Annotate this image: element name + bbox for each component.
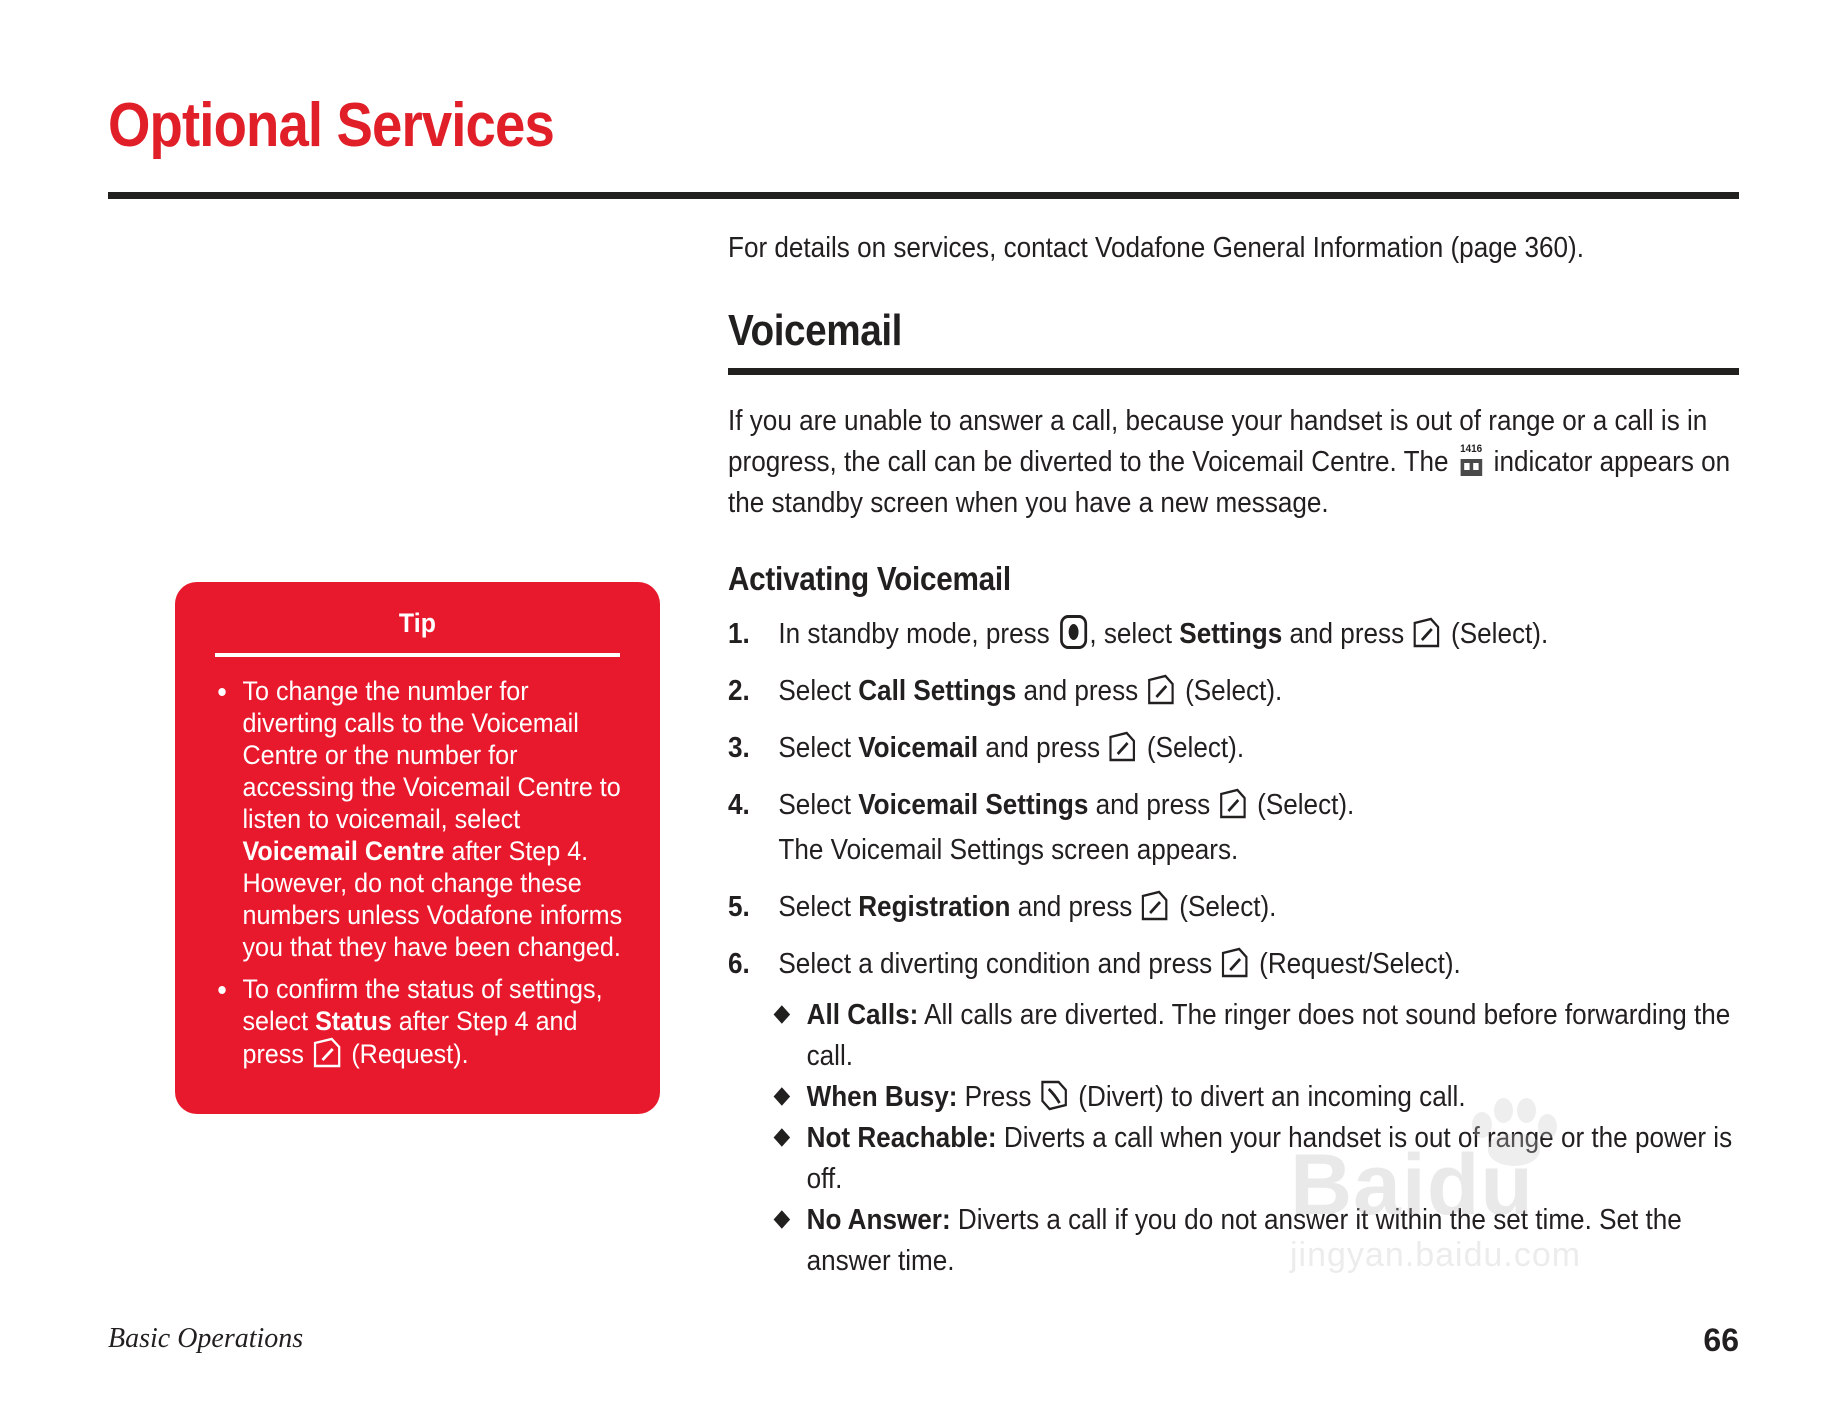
step-number: 2.: [728, 671, 750, 712]
step-number: 6.: [728, 944, 750, 985]
section-paragraph: If you are unable to answer a call, beca…: [728, 401, 1738, 524]
condition-item: All Calls: All calls are diverted. The r…: [776, 995, 1773, 1077]
page-number: 66: [1703, 1322, 1739, 1359]
diverting-conditions-list: All Calls: All calls are diverted. The r…: [728, 995, 1739, 1282]
emphasis-text: Registration: [858, 891, 1010, 923]
step-number: 3.: [728, 728, 750, 769]
center-key-icon: [1060, 615, 1087, 649]
step-item: 2.Select Call Settings and press (Select…: [728, 671, 1738, 712]
condition-item: No Answer: Diverts a call if you do not …: [776, 1200, 1773, 1282]
voicemail-cassette-body: [1460, 459, 1482, 476]
step-item: 5.Select Registration and press (Select)…: [728, 887, 1738, 928]
voicemail-indicator-digits: 1416: [1459, 444, 1482, 455]
softkey-select-icon: [1219, 788, 1246, 819]
softkey-select-icon: [1147, 674, 1174, 705]
step-item: 4.Select Voicemail Settings and press (S…: [728, 785, 1738, 826]
softkey-select-icon: [1109, 731, 1136, 762]
bullet-dot-icon: [218, 986, 225, 994]
condition-item: Not Reachable: Diverts a call when your …: [776, 1118, 1773, 1200]
emphasis-text: Voicemail Centre: [242, 836, 444, 866]
softkey-select-icon: [1413, 617, 1440, 648]
condition-item: When Busy: Press (Divert) to divert an i…: [776, 1077, 1773, 1118]
content-column: For details on services, contact Vodafon…: [728, 228, 1739, 1282]
tip-divider: [215, 653, 620, 657]
tip-list: To change the number for diverting calls…: [209, 675, 626, 1070]
step-item: 3.Select Voicemail and press (Select).: [728, 728, 1738, 769]
tip-callout: Tip To change the number for diverting c…: [175, 582, 660, 1114]
diamond-bullet-icon: [774, 1128, 791, 1146]
diamond-bullet-icon: [774, 1005, 791, 1023]
emphasis-text: Not Reachable:: [807, 1122, 997, 1154]
voicemail-indicator-icon: 1416: [1459, 446, 1482, 476]
footer-section-label: Basic Operations: [108, 1323, 303, 1355]
step-item: 6.Select a diverting condition and press…: [728, 944, 1738, 985]
step-number: 1.: [728, 614, 750, 655]
emphasis-text: Call Settings: [858, 675, 1016, 707]
emphasis-text: All Calls:: [807, 999, 919, 1031]
diamond-bullet-icon: [774, 1087, 791, 1105]
step-item: 1.In standby mode, press , select Settin…: [728, 614, 1738, 655]
tip-item: To change the number for diverting calls…: [209, 675, 624, 963]
tip-item: To confirm the status of settings, selec…: [209, 973, 624, 1070]
emphasis-text: When Busy:: [807, 1081, 958, 1113]
subsection-heading: Activating Voicemail: [728, 560, 1638, 598]
tip-title: Tip: [226, 608, 610, 639]
page-title: Optional Services: [108, 90, 554, 161]
step-number: 5.: [728, 887, 750, 928]
softkey-select-icon: [1221, 947, 1248, 978]
emphasis-text: Status: [315, 1006, 392, 1036]
emphasis-text: Voicemail: [858, 732, 978, 764]
emphasis-text: No Answer:: [807, 1204, 951, 1236]
step-number: 4.: [728, 785, 750, 826]
emphasis-text: Voicemail Settings: [858, 789, 1088, 821]
manual-page: Optional Services Tip To change the numb…: [0, 0, 1826, 1405]
header-rule: [108, 192, 1739, 199]
steps-list: 1.In standby mode, press , select Settin…: [728, 614, 1739, 985]
diamond-bullet-icon: [774, 1210, 791, 1228]
softkey-select-icon: [313, 1037, 341, 1068]
step-note: The Voicemail Settings screen appears.: [728, 830, 1738, 871]
bullet-dot-icon: [218, 688, 225, 696]
intro-text: For details on services, contact Vodafon…: [728, 228, 1738, 268]
section-rule: [728, 368, 1739, 375]
divert-softkey-icon: [1040, 1080, 1067, 1111]
softkey-select-icon: [1141, 890, 1168, 921]
emphasis-text: Settings: [1179, 618, 1282, 650]
section-heading: Voicemail: [728, 306, 1618, 356]
